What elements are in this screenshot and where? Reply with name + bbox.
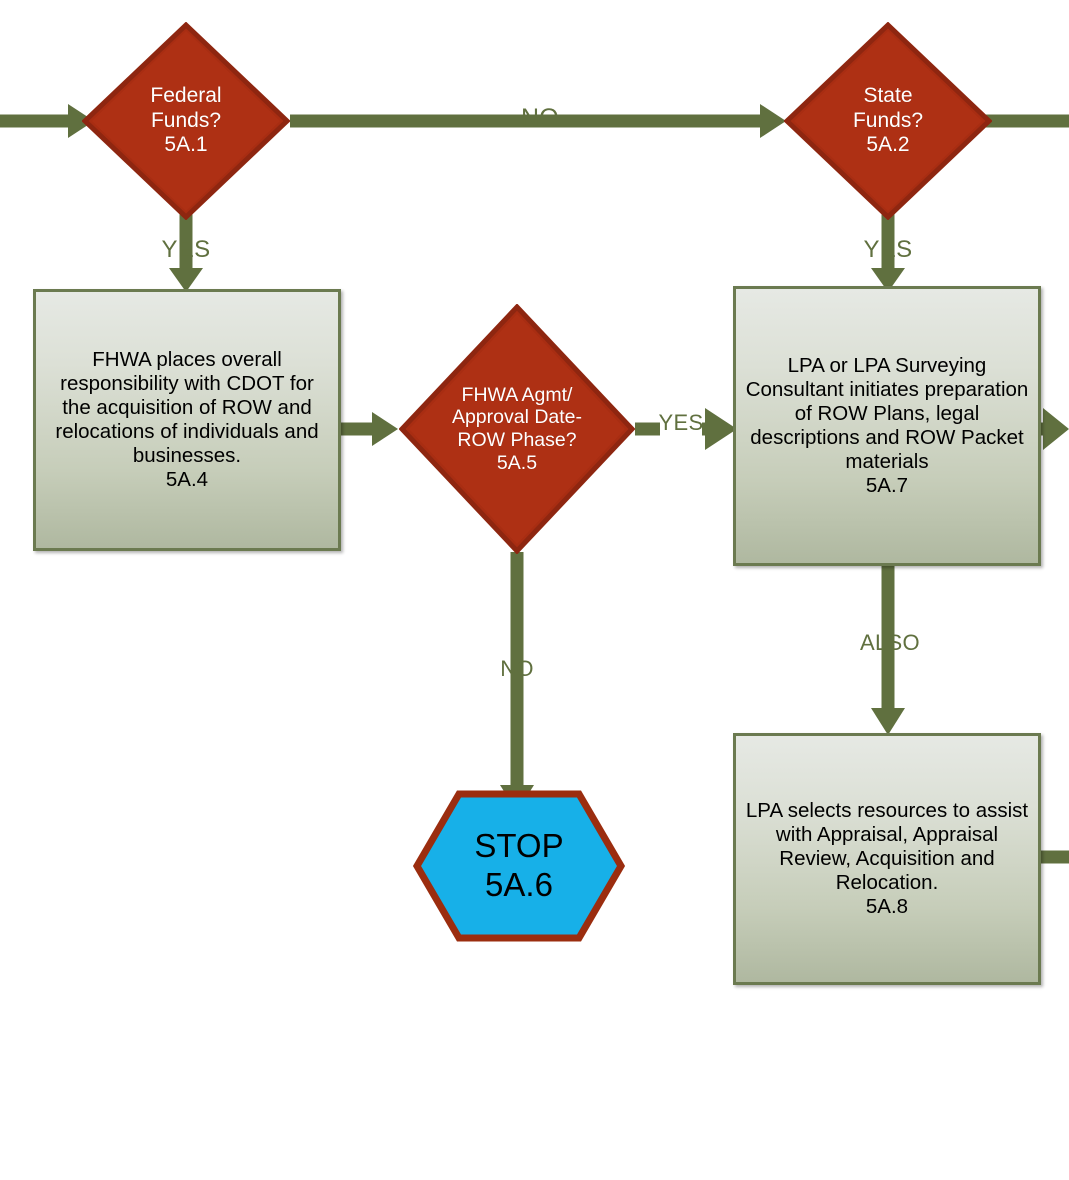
edge-label-also: ALSO: [845, 630, 935, 656]
terminator-stop[interactable]: STOP 5A.6: [413, 790, 625, 942]
decision-federal-funds-label: Federal Funds? 5A.1: [150, 84, 221, 157]
flowchart-canvas: Federal Funds? 5A.1 State Funds? 5A.2 FH…: [0, 0, 1069, 1180]
edge-label-yes-left: YES: [146, 236, 226, 264]
process-fhwa-responsibility[interactable]: FHWA places overall responsibility with …: [33, 289, 341, 551]
process-lpa-resources[interactable]: LPA selects resources to assist with App…: [733, 733, 1041, 985]
process-fhwa-responsibility-label: FHWA places overall responsibility with …: [44, 348, 330, 492]
decision-state-funds-label: State Funds? 5A.2: [853, 84, 923, 157]
process-lpa-surveying[interactable]: LPA or LPA Surveying Consultant initiate…: [733, 286, 1041, 566]
decision-fhwa-agmt[interactable]: FHWA Agmt/ Approval Date- ROW Phase? 5A.…: [399, 304, 635, 554]
decision-federal-funds[interactable]: Federal Funds? 5A.1: [82, 22, 290, 220]
process-lpa-surveying-label: LPA or LPA Surveying Consultant initiate…: [744, 354, 1030, 498]
decision-fhwa-agmt-label: FHWA Agmt/ Approval Date- ROW Phase? 5A.…: [452, 384, 582, 474]
terminator-stop-label: STOP 5A.6: [474, 827, 563, 905]
edge-label-yes-right: YES: [848, 236, 928, 264]
edge-label-no-mid: NO: [482, 656, 552, 682]
edge-5a5-to-stop-no: [500, 552, 534, 812]
edge-label-no-top: NO: [500, 104, 580, 133]
process-lpa-resources-label: LPA selects resources to assist with App…: [744, 799, 1030, 919]
edge-5a4-to-5a5: [340, 412, 398, 446]
edge-entry-to-federal-funds: [0, 104, 94, 138]
edge-label-yes-mid: YES: [650, 410, 712, 436]
decision-state-funds[interactable]: State Funds? 5A.2: [784, 22, 992, 220]
edge-5a7-to-page-right: [1040, 408, 1069, 450]
